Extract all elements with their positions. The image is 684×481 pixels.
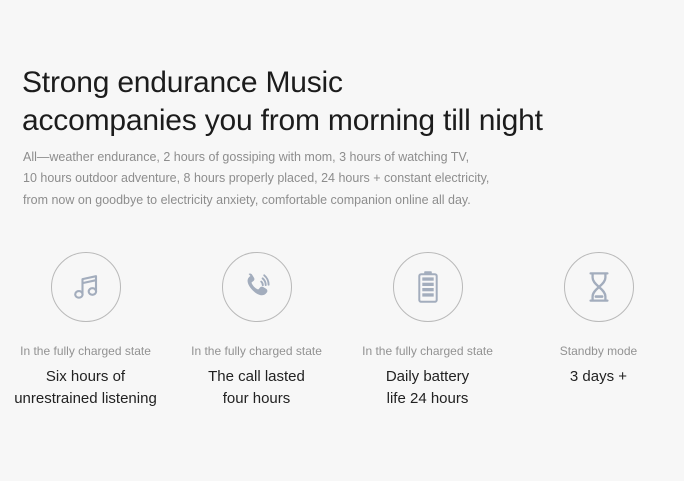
- feature-title-battery-line-1: Daily battery: [386, 368, 469, 385]
- feature-title-music-line-1: Six hours of: [46, 368, 125, 385]
- promo-page: Strong endurance Music accompanies you f…: [0, 0, 684, 481]
- feature-title-standby: 3 days +: [560, 366, 637, 388]
- page-title: Strong endurance Music accompanies you f…: [22, 64, 672, 140]
- feature-icon-circle-battery: [393, 252, 463, 322]
- phone-call-icon: [240, 270, 274, 304]
- feature-title-battery: Daily battery life 24 hours: [362, 366, 493, 410]
- feature-caption-call: In the fully charged state The call last…: [191, 343, 322, 410]
- hourglass-icon: [583, 269, 615, 305]
- feature-item-music: In the fully charged state Six hours of …: [0, 252, 171, 410]
- feature-list: In the fully charged state Six hours of …: [0, 252, 684, 410]
- feature-caption-music: In the fully charged state Six hours of …: [14, 343, 157, 410]
- description-paragraph: All—weather endurance, 2 hours of gossip…: [23, 147, 663, 212]
- description-line-2: 10 hours outdoor adventure, 8 hours prop…: [23, 168, 663, 190]
- feature-icon-circle-call: [222, 252, 292, 322]
- music-note-icon: [69, 270, 103, 304]
- page-title-line-2: accompanies you from morning till night: [22, 102, 672, 140]
- feature-title-call-line-2: four hours: [191, 388, 322, 410]
- feature-label-call: In the fully charged state: [191, 343, 322, 359]
- feature-label-battery: In the fully charged state: [362, 343, 493, 359]
- feature-label-music: In the fully charged state: [14, 343, 157, 359]
- feature-caption-standby: Standby mode 3 days +: [560, 343, 637, 388]
- feature-icon-circle-music: [51, 252, 121, 322]
- feature-title-call: The call lasted four hours: [191, 366, 322, 410]
- battery-icon: [411, 268, 445, 306]
- feature-caption-battery: In the fully charged state Daily battery…: [362, 343, 493, 410]
- feature-item-battery: In the fully charged state Daily battery…: [342, 252, 513, 410]
- feature-item-call: In the fully charged state The call last…: [171, 252, 342, 410]
- feature-icon-circle-standby: [564, 252, 634, 322]
- description-line-1: All—weather endurance, 2 hours of gossip…: [23, 147, 663, 169]
- feature-title-music: Six hours of unrestrained listening: [14, 366, 157, 410]
- page-title-line-1: Strong endurance Music: [22, 64, 672, 102]
- feature-title-music-line-2: unrestrained listening: [14, 388, 157, 410]
- feature-title-call-line-1: The call lasted: [208, 368, 305, 385]
- feature-label-standby: Standby mode: [560, 343, 637, 359]
- description-line-3: from now on goodbye to electricity anxie…: [23, 190, 663, 212]
- feature-title-standby-line-1: 3 days +: [570, 368, 627, 385]
- feature-title-battery-line-2: life 24 hours: [362, 388, 493, 410]
- feature-item-standby: Standby mode 3 days +: [513, 252, 684, 388]
